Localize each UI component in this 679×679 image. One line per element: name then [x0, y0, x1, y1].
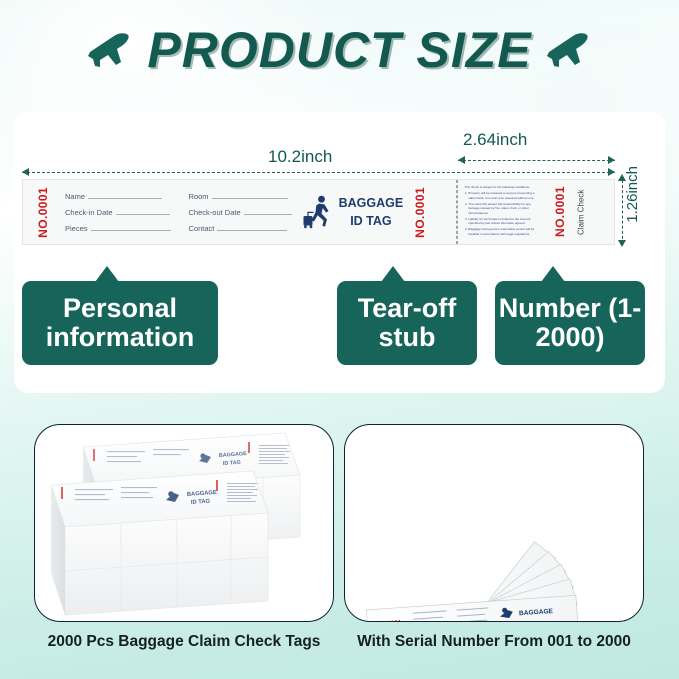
- terms-list: Property will be released to anyone pres…: [464, 191, 541, 236]
- field-contact-line: [217, 230, 287, 231]
- field-room-label: Room: [189, 192, 209, 201]
- field-checkin-date-label: Check-in Date: [65, 208, 113, 217]
- stub-arrow-left-icon: [458, 156, 465, 164]
- airplane-icon: [546, 30, 592, 70]
- field-pieces: Pieces: [65, 224, 171, 233]
- terms-item: Property will be released to anyone pres…: [468, 191, 541, 200]
- svg-text:ID TAG: ID TAG: [223, 460, 241, 467]
- claim-check-label: Claim Check: [571, 180, 591, 244]
- field-name: Name: [65, 192, 171, 201]
- panel-left-caption: 2000 Pcs Baggage Claim Check Tags: [34, 632, 334, 652]
- tag-brand-text: BAGGAGE ID TAG: [339, 194, 404, 230]
- tag-form-column-left: Name Check-in Date Pieces: [65, 192, 171, 233]
- field-checkout-date: Check-out Date: [189, 208, 292, 217]
- stub-dimension-line: [458, 160, 615, 161]
- stub-dimension-label: 2.64inch: [463, 130, 527, 150]
- field-contact-label: Contact: [189, 224, 215, 233]
- panel-stacked-tags: BAGGAGE ID TAG: [34, 424, 334, 622]
- tag-right-serial: NO.0001: [549, 180, 571, 244]
- baggage-tag-sample: NO.0001 Name Check-in Date Pieces: [22, 179, 615, 245]
- callout-tear-off-stub: Tear-off stub: [337, 281, 477, 365]
- stub-arrow-right-icon: [608, 156, 615, 164]
- callout-number-range: Number (1-2000): [495, 281, 645, 365]
- airplane-icon: [87, 30, 133, 70]
- field-name-label: Name: [65, 192, 85, 201]
- width-arrow-right-icon: [608, 168, 615, 176]
- terms-item: Liability for such risks is limited to t…: [468, 217, 541, 226]
- callout-personal-information: Personal information: [22, 281, 218, 365]
- tag-brand-line2: ID TAG: [339, 212, 404, 230]
- tag-form-column-right: Room Check-out Date Contact: [189, 192, 292, 233]
- height-arrow-down-icon: [618, 240, 626, 247]
- tag-brand-line1: BAGGAGE: [339, 194, 404, 212]
- terms-item: Baggage left beyond a reasonable period …: [468, 227, 541, 236]
- field-checkin-date-line: [116, 214, 170, 215]
- fanned-tags-photo: NO.0001 BAGGAGE NO.0001: [345, 425, 644, 622]
- width-arrow-left-icon: [22, 168, 29, 176]
- width-dimension-line: [22, 172, 615, 173]
- field-checkout-date-label: Check-out Date: [189, 208, 241, 217]
- width-dimension-label: 10.2inch: [268, 147, 332, 167]
- traveler-with-suitcase-icon: [302, 195, 332, 229]
- tag-form-fields: Name Check-in Date Pieces Room: [65, 192, 292, 233]
- field-contact: Contact: [189, 224, 292, 233]
- field-checkout-date-line: [244, 214, 292, 215]
- panel-fanned-tags: NO.0001 BAGGAGE NO.0001: [344, 424, 644, 622]
- terms-heading: This check is subject to the following c…: [464, 185, 541, 190]
- panel-right-caption: With Serial Number From 001 to 2000: [344, 632, 644, 652]
- height-dimension-label: 1.26inch: [624, 166, 641, 223]
- header-banner: PRODUCT SIZE: [0, 0, 679, 100]
- field-pieces-line: [91, 230, 171, 231]
- tag-mid-serial: NO.0001: [409, 187, 431, 238]
- field-pieces-label: Pieces: [65, 224, 88, 233]
- tag-left-serial: NO.0001: [31, 187, 55, 238]
- field-room: Room: [189, 192, 292, 201]
- stacked-tag-bundles-photo: BAGGAGE ID TAG: [35, 425, 334, 622]
- product-size-infographic: PRODUCT SIZE 10.2inch 2.64inch 1.26inch …: [0, 0, 679, 679]
- tag-main-section: NO.0001 Name Check-in Date Pieces: [23, 180, 456, 244]
- terms-item: The owner(S) accept full responsibility …: [468, 202, 541, 216]
- height-dimension-line: [622, 180, 623, 244]
- field-checkin-date: Check-in Date: [65, 208, 171, 217]
- tag-terms-block: This check is subject to the following c…: [457, 180, 545, 244]
- field-name-line: [88, 198, 162, 199]
- page-title: PRODUCT SIZE: [147, 21, 531, 79]
- field-room-line: [212, 198, 288, 199]
- tag-claim-stub: This check is subject to the following c…: [456, 180, 614, 244]
